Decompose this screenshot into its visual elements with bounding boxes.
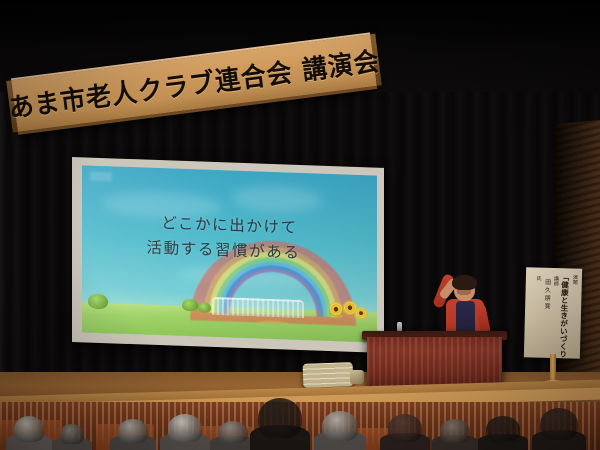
audience-member-head bbox=[14, 416, 44, 442]
audience-member-head bbox=[168, 414, 202, 442]
slide-tree bbox=[198, 302, 211, 312]
program-sign-board: 演題 「健康と生きがいづくりに役立つ笑いの力」 講師 田久朋寛 氏 bbox=[524, 267, 582, 358]
sign-lecturer-name: 田久朋寛 bbox=[542, 279, 550, 353]
audience-member-head bbox=[322, 411, 358, 441]
slide-sunflower bbox=[356, 308, 366, 318]
audience-member-head bbox=[118, 419, 148, 443]
slide-greenhouse bbox=[212, 297, 304, 318]
slide-tree bbox=[88, 294, 108, 310]
sign-honorific: 氏 bbox=[533, 276, 540, 353]
audience-member-head bbox=[258, 398, 302, 438]
sign-topic-label: 演題 bbox=[570, 274, 577, 353]
slide-text-block: どこかに出かけて 活動する習慣がある bbox=[82, 208, 377, 269]
audience-member-head bbox=[540, 408, 578, 440]
sign-lecturer-label: 講師 bbox=[551, 276, 558, 353]
audience-member-head bbox=[60, 424, 84, 444]
audience-member-head bbox=[388, 414, 422, 442]
audience-member-head bbox=[486, 416, 520, 442]
suitcase-ribs bbox=[303, 362, 354, 388]
lectern-wood-grain bbox=[367, 337, 502, 389]
projection-screen-surface: どこかに出かけて 活動する習慣がある bbox=[82, 165, 377, 342]
slide-corner-mark bbox=[90, 172, 112, 182]
audience-member-head bbox=[440, 419, 470, 443]
program-sign-text: 演題 「健康と生きがいづくりに役立つ笑いの力」 講師 田久朋寛 氏 bbox=[529, 272, 577, 353]
lectern bbox=[367, 337, 502, 389]
sign-topic-title: 「健康と生きがいづくりに役立つ笑いの力」 bbox=[559, 273, 569, 353]
lecture-hall-photo: あま市老人クラブ連合会 講演会 どこかに出かけて 活動する習慣がある bbox=[0, 0, 600, 450]
audience-member-head bbox=[218, 421, 248, 443]
speaker-person bbox=[432, 268, 496, 340]
speaker-hair bbox=[452, 275, 477, 290]
slide-sunflower bbox=[344, 301, 356, 313]
suitcase-prop bbox=[303, 362, 354, 388]
suitcase-handle bbox=[350, 370, 364, 384]
slide-tree bbox=[182, 299, 198, 312]
projection-screen-frame: どこかに出かけて 活動する習慣がある bbox=[72, 157, 384, 353]
slide-sunflower bbox=[330, 303, 342, 315]
